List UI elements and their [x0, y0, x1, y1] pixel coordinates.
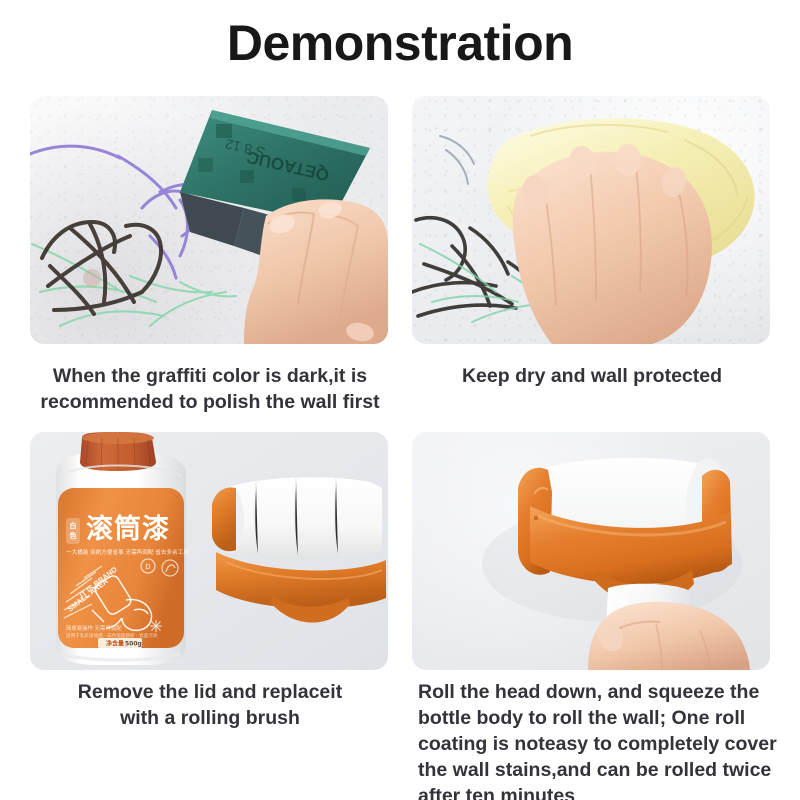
panel-2-image	[412, 96, 770, 344]
svg-text:净含量: 净含量	[106, 640, 124, 648]
graffiti-smudge	[83, 269, 101, 287]
hand-wiping	[513, 143, 712, 344]
svg-text:一大桶装 涂刷方便省事 无需再调配 省去多余工具: 一大桶装 涂刷方便省事 无需再调配 省去多余工具	[66, 548, 189, 556]
svg-text:D: D	[145, 563, 150, 571]
page-title: Demonstration	[0, 14, 800, 72]
svg-text:简单易操作 无需再调配: 简单易操作 无需再调配	[66, 624, 122, 632]
snowflake-icon	[150, 620, 162, 632]
panel-2-illustration	[412, 96, 770, 344]
svg-text:白: 白	[70, 521, 77, 530]
svg-text:滚筒漆: 滚筒漆	[86, 513, 170, 545]
panel-4-image	[412, 432, 770, 670]
panel-1-image: QETAOUC S 8 12	[30, 96, 388, 344]
panel-3-illustration: 白 色 滚筒漆 一大桶装 涂刷方便省事 无需再调配 省去多余工具	[30, 432, 388, 670]
roller-sleeve	[226, 477, 382, 560]
graffiti-purple	[30, 146, 200, 278]
svg-text:适用于乳胶漆墙面 · 白色墙面翻新 · 遮盖污渍: 适用于乳胶漆墙面 · 白色墙面翻新 · 遮盖污渍	[66, 632, 158, 639]
panel-4-caption: Roll the head down, and squeeze the bott…	[418, 680, 786, 800]
demonstration-infographic: Demonstration	[0, 0, 800, 800]
product-bottle: 白 色 滚筒漆 一大桶装 涂刷方便省事 无需再调配 省去多余工具	[56, 432, 189, 665]
bracket-pin	[534, 516, 538, 520]
panel-1-illustration: QETAOUC S 8 12	[30, 96, 388, 344]
panel-4-illustration	[412, 432, 770, 670]
svg-text:色: 色	[70, 531, 77, 540]
panel-1-caption: When the graffiti color is dark,it is re…	[28, 364, 392, 416]
graffiti-green	[32, 244, 236, 326]
bottle-label	[58, 488, 184, 648]
panel-3-image: 白 色 滚筒漆 一大桶装 涂刷方便省事 无需再调配 省去多余工具	[30, 432, 388, 670]
svg-text:500g: 500g	[125, 641, 142, 648]
roller-bracket	[216, 552, 386, 608]
panel-3-caption: Remove the lid and replaceit with a roll…	[28, 680, 392, 732]
graffiti-dark	[42, 222, 161, 314]
hand-holding-block	[244, 199, 388, 344]
panel-2-caption: Keep dry and wall protected	[410, 364, 774, 390]
roller-attachment	[212, 477, 386, 622]
